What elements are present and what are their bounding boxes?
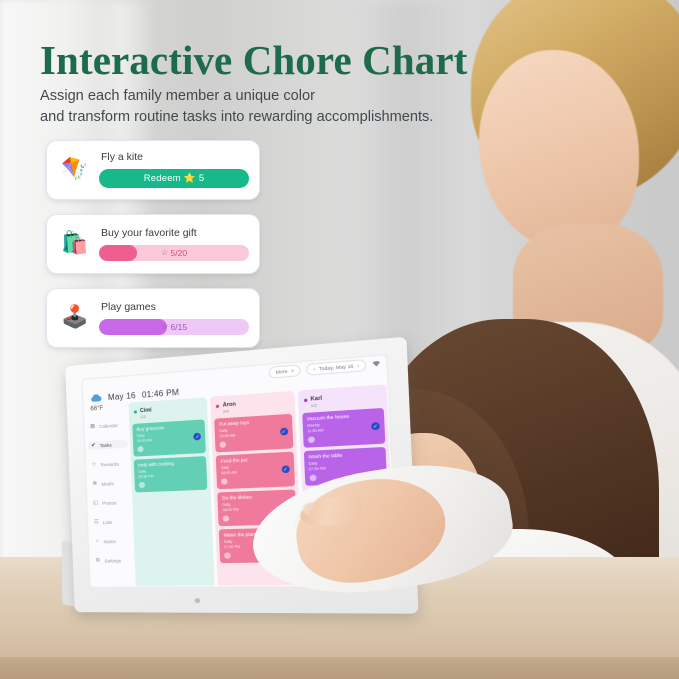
screen-sidebar: ▦Calendar✔Tasks☆Rewards☸Meals◱Photos☰Lis…: [87, 420, 133, 565]
task-meta: Weekly 11:00 AM: [307, 419, 380, 434]
progress-count: 5/20: [171, 248, 188, 258]
member-color-dot: [134, 410, 137, 413]
date-navigator[interactable]: ‹ Today, May 16 ›: [306, 359, 366, 376]
task-card[interactable]: Put away toysDaily 10:00 AM✓: [215, 414, 293, 453]
prev-day-icon[interactable]: ‹: [313, 366, 315, 372]
tablet-sensor: [195, 598, 201, 603]
more-label: More: [276, 369, 288, 375]
task-avatar: [221, 478, 228, 485]
next-day-icon[interactable]: ›: [357, 363, 359, 369]
sidebar-item-rewards[interactable]: ☆Rewards: [89, 459, 129, 469]
sidebar-item-tasks[interactable]: ✔Tasks: [88, 440, 128, 450]
current-date-label: Today, May 16: [319, 363, 354, 371]
chore-card[interactable]: 🛍️ Buy your favorite gift ☆ 5/20: [46, 214, 260, 274]
gift-icon: 🛍️: [57, 224, 93, 262]
progress-count: 6/15: [171, 322, 188, 332]
sidebar-item-label: Photos: [102, 500, 117, 506]
member-color-dot: [216, 404, 219, 407]
chore-title: Fly a kite: [101, 151, 249, 163]
redeem-label: Redeem: [144, 173, 181, 184]
lists-icon: ☰: [93, 519, 100, 525]
redeem-star-count: 5: [199, 173, 204, 184]
star-outline-icon: ☆: [161, 321, 169, 332]
screen-time: 01:46 PM: [142, 387, 180, 399]
chore-card-list: 🪁 Fly a kite Redeem ⭐ 5 🛍️ Buy your favo…: [46, 140, 264, 362]
chore-card[interactable]: 🪁 Fly a kite Redeem ⭐ 5: [46, 140, 260, 200]
desk-edge: [0, 657, 679, 679]
progress-bar[interactable]: ☆ 5/20: [99, 245, 249, 261]
progress-fill: [99, 319, 167, 335]
sidebar-item-settings[interactable]: ⚙Settings: [92, 556, 133, 565]
sidebar-item-label: Rewards: [101, 461, 119, 467]
task-card[interactable]: Feed the petDaily 08:00 AM✓: [216, 452, 295, 490]
task-avatar: [220, 441, 227, 448]
screen-temperature: 66°F: [90, 406, 103, 413]
more-button[interactable]: More ˅: [269, 364, 301, 378]
chore-card-body: Play games ☆ 6/15: [99, 300, 249, 335]
joystick-icon: 🕹️: [57, 298, 93, 336]
task-avatar: [307, 436, 314, 443]
calendar-icon: ▦: [89, 423, 96, 429]
chore-title: Buy your favorite gift: [101, 227, 249, 239]
sidebar-item-label: Settings: [104, 558, 121, 563]
sidebar-item-photos[interactable]: ◱Photos: [90, 498, 130, 508]
kite-icon: 🪁: [57, 150, 93, 188]
progress-label-group: ☆ 6/15: [161, 321, 187, 332]
task-card[interactable]: Help with cookingDaily 05:30 PM: [134, 456, 208, 492]
chevron-down-icon: ˅: [291, 368, 294, 374]
photos-icon: ◱: [92, 500, 99, 506]
sidebar-item-notes[interactable]: ○Notes: [92, 537, 132, 546]
progress-fill: [99, 245, 137, 261]
rewards-icon: ☆: [91, 462, 98, 468]
progress-label-group: ☆ 5/20: [161, 247, 187, 258]
notes-icon: ○: [94, 538, 101, 544]
task-avatar: [224, 552, 231, 558]
screen-date: May 16: [108, 390, 136, 401]
tasks-icon: ✔: [90, 442, 97, 448]
sidebar-item-label: Meals: [101, 481, 113, 487]
task-avatar: [309, 474, 316, 481]
sidebar-item-label: Notes: [104, 539, 116, 544]
cloud-weather-icon: [90, 391, 102, 404]
page-subtitle: Assign each family member a unique color…: [40, 86, 520, 128]
star-icon: ⭐: [184, 173, 196, 184]
task-avatar: [139, 482, 145, 488]
task-title: Do the dishes: [222, 493, 290, 501]
sidebar-item-lists[interactable]: ☰Lists: [91, 517, 131, 526]
sidebar-item-meals[interactable]: ☸Meals: [89, 478, 129, 488]
task-avatar: [223, 515, 230, 522]
member-name: Cimi: [140, 407, 152, 414]
chore-card-body: Fly a kite Redeem ⭐ 5: [99, 150, 249, 188]
meals-icon: ☸: [91, 481, 98, 487]
sidebar-item-label: Calendar: [99, 422, 118, 428]
wifi-icon: [372, 360, 381, 370]
task-meta: Daily 10:00 AM: [219, 425, 288, 440]
chore-card-body: Buy your favorite gift ☆ 5/20: [99, 226, 249, 261]
task-avatar: [137, 446, 143, 452]
redeem-button[interactable]: Redeem ⭐ 5: [99, 169, 249, 188]
page-title: Interactive Chore Chart: [40, 36, 510, 84]
task-meta: Daily 09:00 AM: [137, 430, 202, 444]
progress-bar[interactable]: ☆ 6/15: [99, 319, 249, 335]
task-meta: Daily 08:00 AM: [221, 463, 290, 477]
member-name: Karl: [310, 395, 322, 402]
task-column: Cimi1/2Buy groceriesDaily 09:00 AM✓Help …: [128, 397, 215, 586]
member-name: Aron: [223, 401, 236, 408]
subtitle-line-1: Assign each family member a unique color: [40, 86, 520, 107]
task-meta: Daily 05:30 PM: [138, 467, 203, 480]
chore-title: Play games: [101, 301, 249, 313]
star-outline-icon: ☆: [161, 247, 169, 258]
member-color-dot: [304, 398, 308, 401]
settings-icon: ⚙: [94, 558, 101, 564]
task-card[interactable]: Vacuum the houseWeekly 11:00 AM✓: [302, 408, 385, 448]
sidebar-item-label: Tasks: [100, 442, 112, 448]
sidebar-item-calendar[interactable]: ▦Calendar: [87, 420, 127, 431]
chore-card[interactable]: 🕹️ Play games ☆ 6/15: [46, 288, 260, 348]
task-card[interactable]: Buy groceriesDaily 09:00 AM✓: [132, 419, 206, 456]
sidebar-item-label: Lists: [103, 519, 113, 524]
subtitle-line-2: and transform routine tasks into rewardi…: [40, 107, 520, 128]
